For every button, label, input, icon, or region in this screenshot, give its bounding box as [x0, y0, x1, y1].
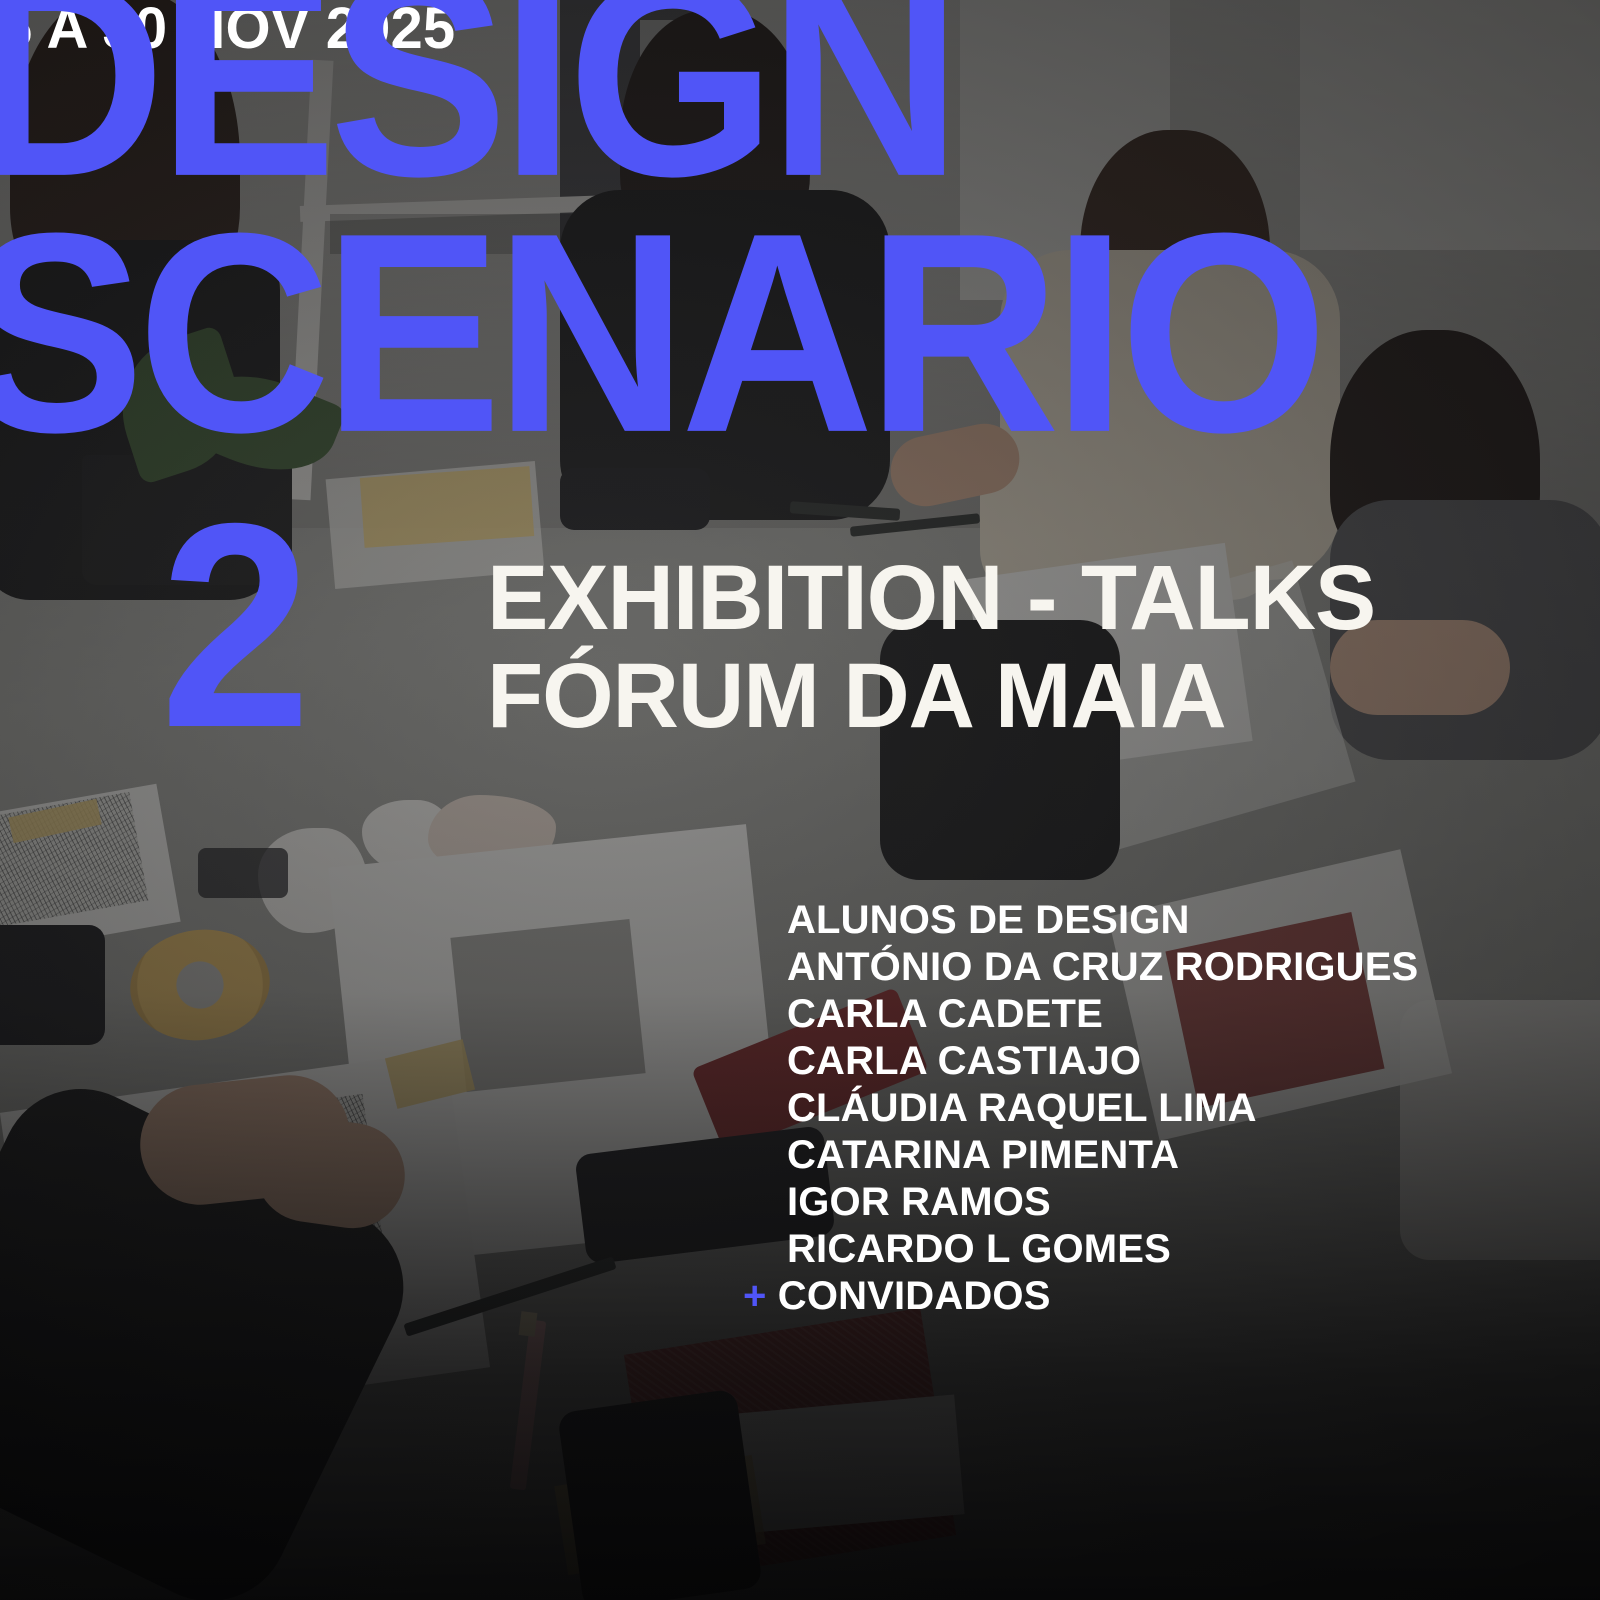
edition-number: 2	[160, 512, 303, 739]
headline-venue: FÓRUM DA MAIA	[487, 650, 1226, 742]
participant-name: RICARDO L GOMES	[787, 1227, 1171, 1271]
poster: DESIGN SCENARIO 2 EXHIBITION - TALKS FÓR…	[0, 0, 1600, 1600]
participants-list: ALUNOS DE DESIGN ANTÓNIO DA CRUZ RODRIGU…	[787, 897, 1418, 1320]
participant-name: CLÁUDIA RAQUEL LIMA	[787, 1086, 1257, 1130]
participant-name: IGOR RAMOS	[787, 1180, 1051, 1224]
hero-title-line2: SCENARIO	[0, 222, 1321, 444]
participant-name: CARLA CADETE	[787, 992, 1103, 1036]
sponsor-logos: UNIVERSIDADE LUSÓFONA CENTRO UNIVERSITÁR…	[0, 1350, 1600, 1600]
list-item: RICARDO L GOMES	[787, 1226, 1418, 1273]
plus-marker: +	[743, 1274, 778, 1318]
participant-name: CARLA CASTIAJO	[787, 1039, 1141, 1083]
list-item: ANTÓNIO DA CRUZ RODRIGUES	[787, 944, 1418, 991]
list-item: ALUNOS DE DESIGN	[787, 897, 1418, 944]
participant-name: CONVIDADOS	[778, 1274, 1051, 1318]
list-item: CARLA CASTIAJO	[787, 1038, 1418, 1085]
list-item: CATARINA PIMENTA	[787, 1132, 1418, 1179]
participant-name: ANTÓNIO DA CRUZ RODRIGUES	[787, 945, 1418, 989]
list-item: CLÁUDIA RAQUEL LIMA	[787, 1085, 1418, 1132]
participant-name: CATARINA PIMENTA	[787, 1133, 1179, 1177]
list-item: IGOR RAMOS	[787, 1179, 1418, 1226]
participant-name: ALUNOS DE DESIGN	[787, 898, 1190, 942]
hero-title-line1: DESIGN	[0, 0, 954, 188]
list-item: CARLA CADETE	[787, 991, 1418, 1038]
list-item: + CONVIDADOS	[743, 1273, 1418, 1320]
headline-exhibition-talks: EXHIBITION - TALKS	[487, 552, 1375, 644]
